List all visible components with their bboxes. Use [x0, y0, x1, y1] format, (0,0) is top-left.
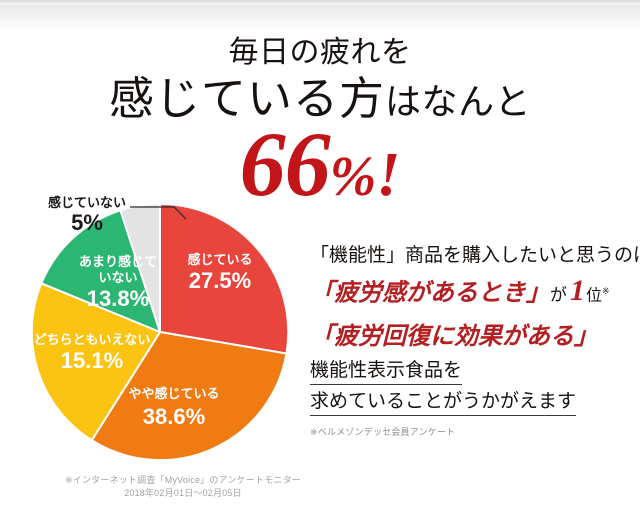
pie-label-name-amari-2: いない: [98, 270, 137, 285]
pie-label-name-kanjiteiru: 感じている: [187, 252, 252, 267]
copy-line-2-highlight: 「疲労感があるとき」: [310, 280, 550, 306]
marketing-copy-block: 「機能性」商品を購入したいと思うのは 「疲労感があるとき」が1位※ 「疲労回復に…: [310, 243, 635, 438]
pie-label-value-amari: 13.8%: [87, 286, 149, 311]
pie-callout-value: 5%: [27, 211, 147, 234]
percentage-exclamation: !: [376, 141, 400, 209]
pie-chart: 感じている 27.5% やや感じている 38.6% どちらともいえない 15.1…: [30, 202, 294, 464]
survey-source-note: ※インターネット調査「MyVoice」のアンケートモニター 2018年02月01…: [52, 474, 314, 500]
pie-label-name-amari-1: あまり感じて: [79, 254, 157, 269]
copy-line-3-highlight: 「疲労回復に効果がある」: [310, 322, 635, 352]
survey-source-line-2: 2018年02月01日～02月05日: [52, 487, 314, 500]
copy-rank-number: 1: [567, 274, 586, 307]
pie-label-value-dochira: 15.1%: [61, 348, 123, 373]
copy-line-4: 機能性表示食品を: [310, 358, 462, 385]
pie-callout-name: 感じていない: [27, 196, 147, 210]
pie-callout-kanjitenai: 感じていない 5%: [27, 196, 147, 234]
copy-line-1: 「機能性」商品を購入したいと思うのは: [310, 243, 635, 269]
headline-line-1: 毎日の疲れを: [0, 36, 640, 70]
copy-line-2-particle: が: [550, 285, 567, 304]
infographic-canvas: 毎日の疲れを 感じている方はなんと 66%! 感じている 27.5% やや感じて…: [0, 0, 640, 512]
copy-rank-unit: 位: [586, 287, 602, 304]
percentage-symbol: %: [330, 146, 377, 208]
copy-footnote-mark: ※: [602, 286, 610, 296]
top-edge-fade: [0, 5, 640, 31]
pie-label-name-dochira: どちらともいえない: [34, 332, 151, 347]
pie-label-value-yaya: 38.6%: [143, 404, 205, 429]
pie-callout-leader-line: [130, 202, 190, 224]
pie-chart-svg: 感じている 27.5% やや感じている 38.6% どちらともいえない 15.1…: [30, 202, 294, 464]
copy-line-5: 求めていることがうかがえます: [310, 389, 576, 416]
pie-label-value-kanjiteiru: 27.5%: [189, 268, 251, 293]
copy-source-note: ※ベルメゾンデッセ会員アンケート: [310, 425, 635, 438]
headline-suffix: はなんと: [385, 82, 531, 122]
percentage-number: 66: [240, 113, 330, 215]
survey-source-line-1: ※インターネット調査「MyVoice」のアンケートモニター: [52, 474, 314, 487]
copy-line-2: 「疲労感があるとき」が1位※: [310, 276, 635, 311]
pie-label-name-yaya: やや感じている: [128, 386, 219, 401]
